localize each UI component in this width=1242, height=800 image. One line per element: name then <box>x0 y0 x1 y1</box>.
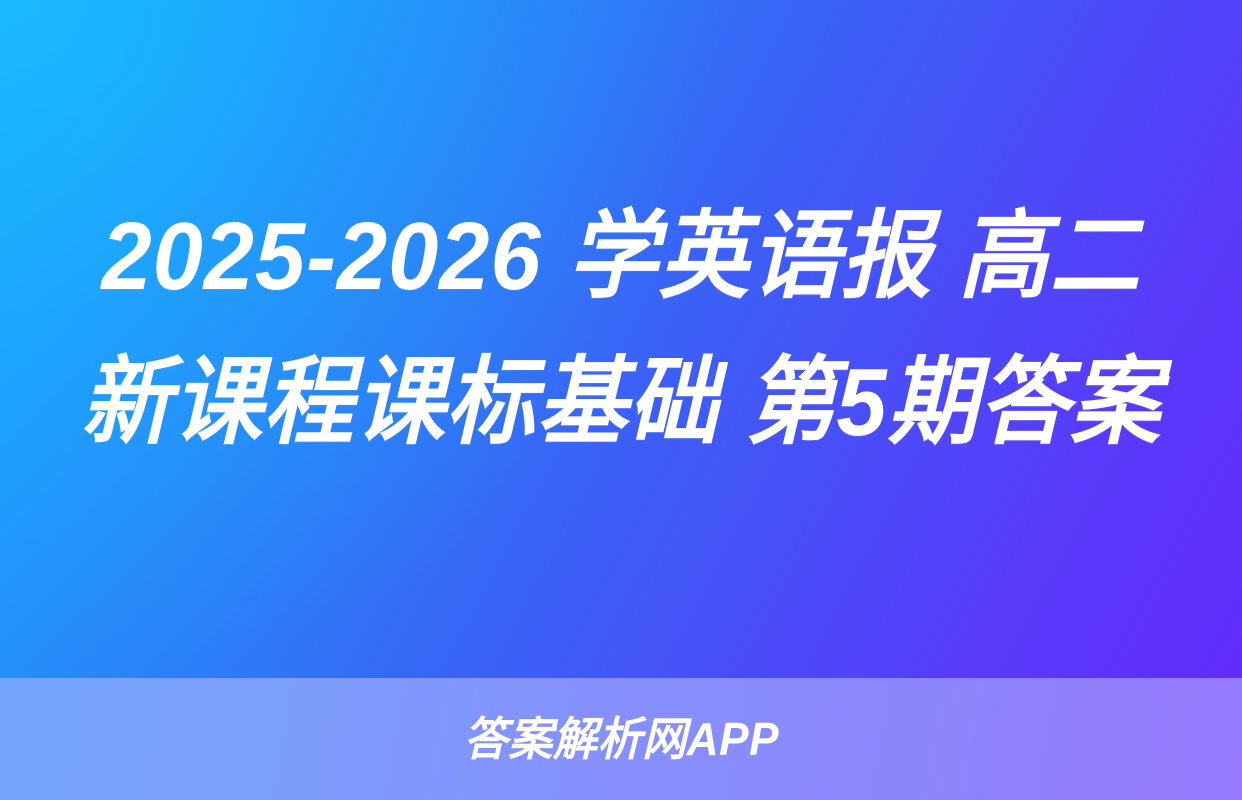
answer-promo-card: 2025-2026 学英语报 高二 新课程课标基础 第5期答案 答案解析网APP <box>0 0 1242 800</box>
headline-region: 2025-2026 学英语报 高二 新课程课标基础 第5期答案 <box>0 0 1242 678</box>
app-name-label: 答案解析网APP <box>463 716 778 762</box>
page-title: 2025-2026 学英语报 高二 新课程课标基础 第5期答案 <box>79 184 1164 476</box>
app-watermark-bar: 答案解析网APP <box>0 678 1242 800</box>
